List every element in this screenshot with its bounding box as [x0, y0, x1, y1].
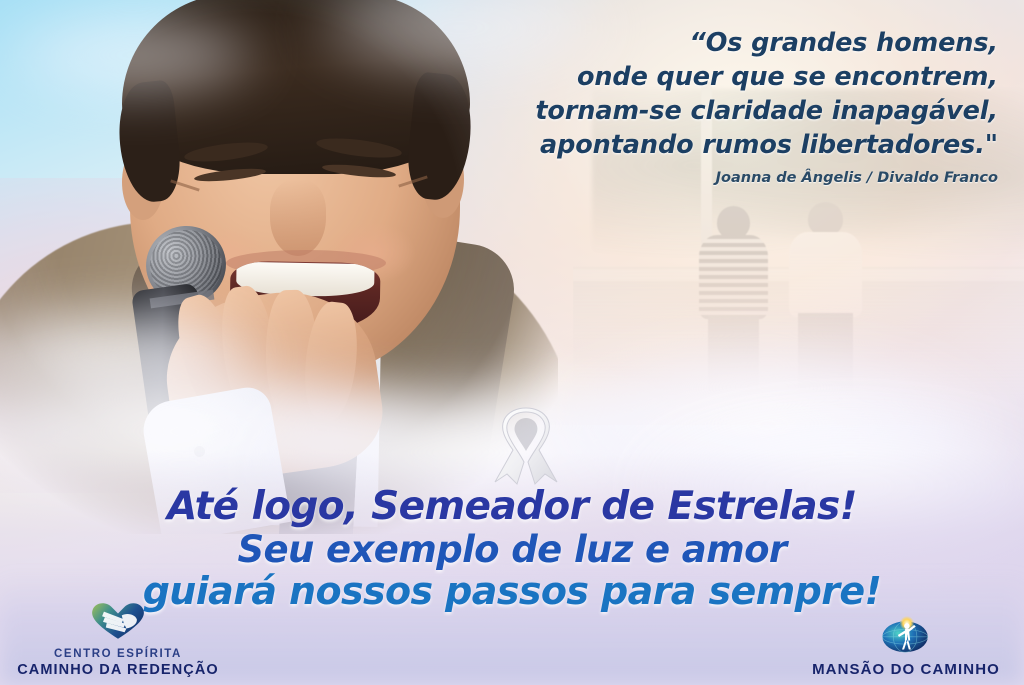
headline-line-2: Seu exemplo de luz e amor — [0, 530, 1024, 570]
memorial-poster: “Os grandes homens, onde quer que se enc… — [0, 0, 1024, 685]
quote-attribution: Joanna de Ângelis / Divaldo Franco — [453, 170, 998, 186]
heart-with-clasped-hands-icon — [8, 599, 228, 645]
headline-line-1: Até logo, Semeador de Estrelas! — [0, 486, 1024, 528]
centro-espirita-logo: CENTRO ESPÍRITA CAMINHO DA REDENÇÃO — [8, 599, 228, 679]
quote-line-4: apontando rumos libertadores." — [453, 128, 998, 162]
mansao-do-caminho-logo: MANSÃO DO CAMINHO — [796, 615, 1016, 679]
white-awareness-ribbon-icon — [487, 406, 565, 488]
centro-espirita-line-2: CAMINHO DA REDENÇÃO — [8, 662, 228, 679]
cloud — [0, 7, 266, 103]
quote-block: “Os grandes homens, onde quer que se enc… — [453, 26, 998, 163]
quote-line-1: “Os grandes homens, — [453, 26, 998, 60]
headline-block: Até logo, Semeador de Estrelas! Seu exem… — [0, 486, 1024, 612]
centro-espirita-line-1: CENTRO ESPÍRITA — [8, 647, 228, 661]
quote-line-3: tornam-se claridade inapagável, — [453, 94, 998, 128]
quote-line-2: onde quer que se encontrem, — [453, 60, 998, 94]
mansao-do-caminho-label: MANSÃO DO CAMINHO — [796, 661, 1016, 679]
globe-with-figure-holding-torch-icon — [796, 615, 1016, 659]
